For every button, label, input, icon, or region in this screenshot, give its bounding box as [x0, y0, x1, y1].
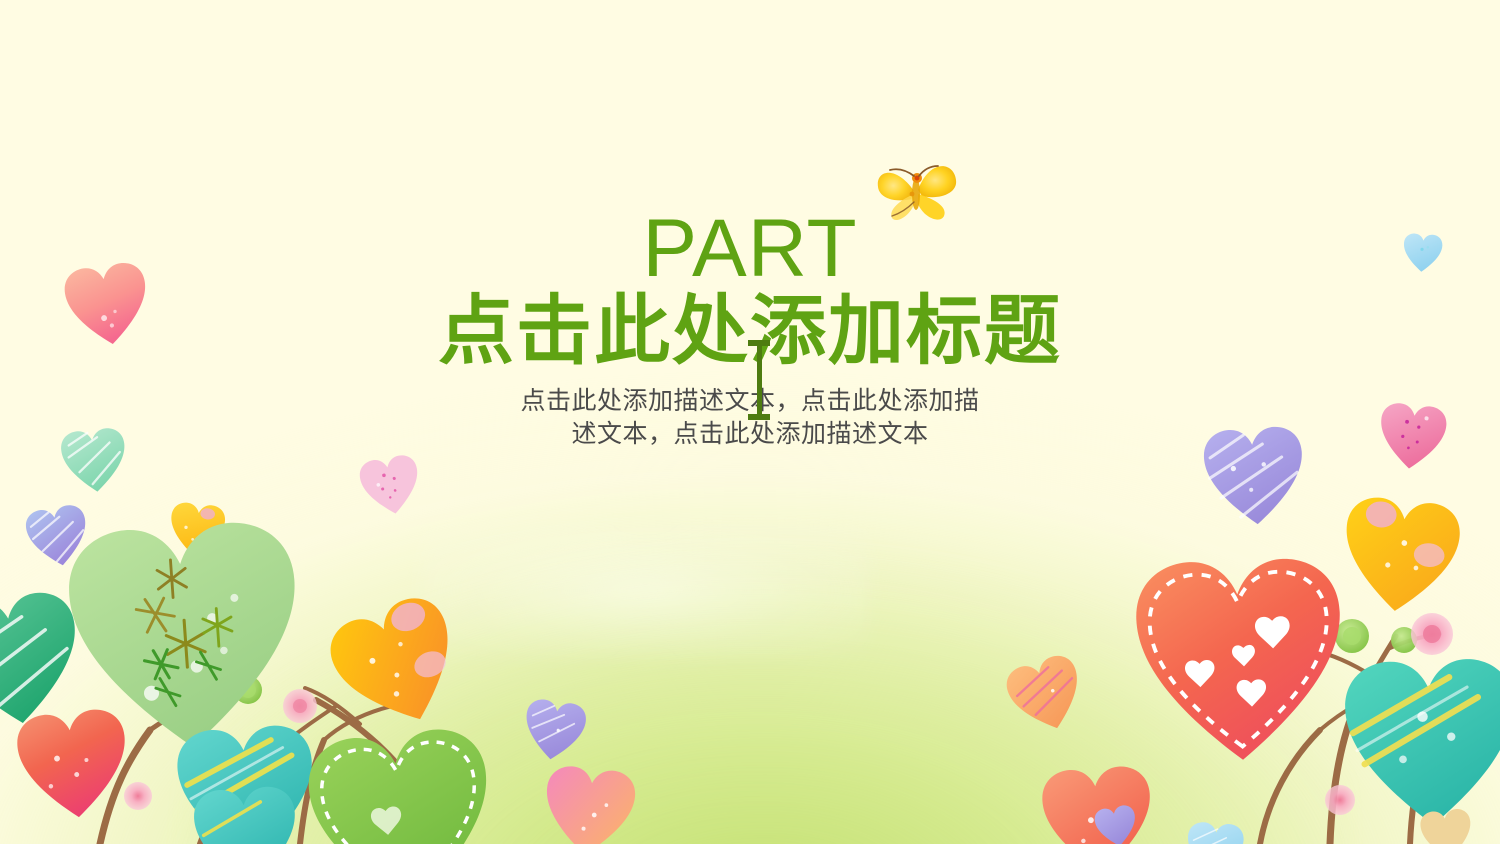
slide-canvas: PART 点击此处添加标题 点击此处添加描述文本，点击此处添加描 述文本，点击此…	[0, 0, 1500, 844]
heart-purple-striped-center	[521, 697, 588, 763]
page-title[interactable]: 点击此处添加标题	[0, 286, 1500, 376]
heart-pink-floral-small	[357, 453, 424, 519]
part-label[interactable]: PART	[0, 206, 1500, 292]
description-text[interactable]: 点击此处添加描述文本，点击此处添加描 述文本，点击此处添加描述文本	[0, 384, 1500, 450]
heart-orange-striped-right	[1002, 651, 1091, 739]
heart-red-stitched-right	[1134, 557, 1344, 763]
heart-teal-striped-right	[1344, 658, 1500, 828]
heart-pink-orange-center	[541, 764, 638, 844]
description-line-1: 点击此处添加描述文本，点击此处添加描	[0, 384, 1500, 417]
heart-orange-center-low	[1040, 765, 1155, 844]
heart-green-stitched-center	[304, 725, 499, 844]
heart-blue-small-bottom	[1185, 821, 1244, 844]
description-line-2: 述文本，点击此处添加描述文本	[0, 417, 1500, 450]
heart-yellow-pink-right	[1339, 495, 1463, 617]
title-text-block: PART 点击此处添加标题 点击此处添加描述文本，点击此处添加描 述文本，点击此…	[0, 206, 1500, 450]
heart-red-left	[14, 707, 132, 823]
